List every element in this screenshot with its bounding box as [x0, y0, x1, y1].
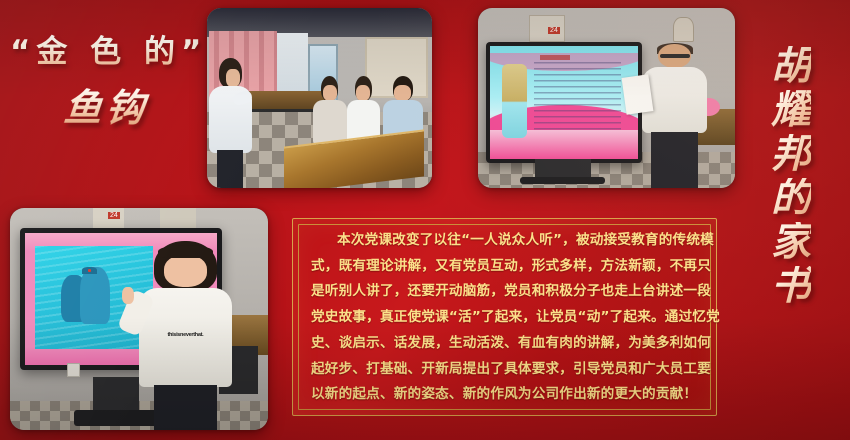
photo-speaker-with-display[interactable]	[478, 8, 735, 188]
face	[394, 85, 411, 101]
body-line-2: 式，既有理论讲解，又有党员互动，形式多样，方法新颖，不再只	[311, 260, 698, 274]
display-screen	[486, 42, 643, 163]
illustration-figure-b	[80, 267, 110, 325]
torso	[313, 100, 347, 145]
presenting-woman: thisisneverthat.	[139, 241, 232, 430]
window	[277, 33, 309, 98]
side-title-char-5: 家	[771, 222, 811, 262]
side-title-char-6: 书	[771, 266, 811, 306]
display-stand	[535, 159, 592, 184]
held-papers	[622, 74, 654, 115]
slide-body-text	[534, 62, 620, 132]
illustration-army-cap	[82, 267, 96, 274]
bangs	[158, 245, 214, 258]
face	[356, 85, 370, 101]
photo-scene: thisisneverthat.	[10, 208, 268, 430]
body-line-3: 是听别人讲了，还要开动脑筋，党员和积极分子也走上台讲述一段	[311, 285, 698, 299]
torso	[642, 67, 706, 133]
poster-stage: “金 色 的” 鱼钩 胡 耀 邦 的 家 书	[0, 0, 850, 440]
body-text-panel: 本次党课改变了以往“一人说众人听”，被动接受教育的传统模 式，既有理论讲解，又有…	[292, 218, 717, 416]
slide-statue-image	[502, 64, 527, 138]
wall-plaque	[673, 17, 694, 42]
slide-content	[490, 46, 639, 159]
body-line-4: 党史故事，真正使党课“活”了起来，让党员“动”了起来。通过忆党	[311, 311, 698, 325]
side-title-char-2: 耀	[771, 90, 811, 130]
headline-sub: 鱼钩	[8, 87, 204, 129]
hand	[122, 287, 134, 304]
side-title-vertical: 胡 耀 邦 的 家 书	[760, 46, 822, 306]
body-line-7: 以新的起点、新的姿态、新的作风为公司作出新的更大的贡献！	[311, 388, 698, 402]
face	[226, 69, 240, 87]
photo-scene	[478, 8, 735, 188]
body-text-panel-inner: 本次党课改变了以往“一人说众人听”，被动接受教育的传统模 式，既有理论讲解，又有…	[298, 224, 711, 410]
legs	[651, 132, 697, 188]
side-title-char-4: 的	[771, 178, 811, 218]
presenting-man	[642, 44, 706, 188]
wall-outlet	[67, 363, 80, 376]
wall-decor-shelf	[160, 208, 196, 228]
legs	[217, 150, 244, 188]
glasses-icon	[660, 54, 690, 58]
photo-student-with-illustration[interactable]: thisisneverthat.	[10, 208, 268, 430]
t-shirt: thisisneverthat.	[139, 288, 232, 386]
standing-presenter	[209, 58, 252, 188]
body-line-5: 史、谈启示、话发展，生动活泼、有血有肉的讲解，为美多利如何	[311, 337, 698, 351]
wall-decor-bowling	[529, 15, 565, 42]
side-title-char-3: 邦	[771, 134, 811, 174]
slide-title-text	[540, 55, 570, 60]
photo-scene	[207, 8, 432, 188]
legs	[154, 385, 217, 430]
body-line-1: 本次党课改变了以往“一人说众人听”，被动接受教育的传统模	[311, 234, 698, 248]
body-line-6: 起好步、打基础、开新局提出了具体要求，引导党员和广大员工要	[311, 363, 698, 377]
headline-main: “金 色 的”	[10, 34, 202, 71]
t-shirt-print-text: thisisneverthat.	[159, 332, 211, 339]
side-title-char-1: 胡	[771, 46, 811, 86]
headline-block: “金 色 的” 鱼钩	[10, 34, 202, 128]
display-stand	[93, 377, 139, 426]
photo-meeting-room-discussion[interactable]	[207, 8, 432, 188]
face	[323, 85, 337, 101]
face	[164, 255, 207, 287]
wall-decor-bowling	[93, 208, 124, 228]
